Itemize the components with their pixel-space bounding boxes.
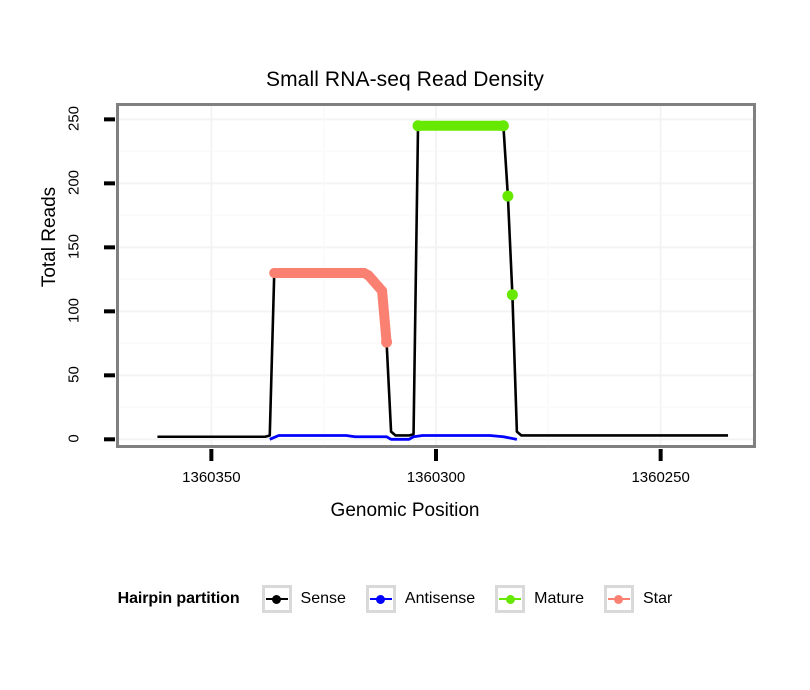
chart-figure: Small RNA-seq Read Density Total Reads G…: [0, 0, 810, 690]
legend-item-antisense[interactable]: Antisense: [366, 585, 495, 613]
legend-label: Star: [643, 590, 672, 608]
data-point-mature: [507, 289, 518, 300]
data-point-mature: [502, 191, 513, 202]
legend-item-star[interactable]: Star: [604, 585, 692, 613]
data-point-star: [377, 286, 387, 296]
data-point-mature: [498, 120, 509, 131]
legend-key-icon: [495, 585, 525, 613]
legend-title: Hairpin partition: [118, 590, 240, 608]
legend-key-icon: [604, 585, 634, 613]
legend-label: Sense: [301, 590, 346, 608]
legend-item-sense[interactable]: Sense: [262, 585, 366, 613]
legend-label: Antisense: [405, 590, 475, 608]
legend-entry-list: SenseAntisenseMatureStar: [262, 585, 693, 613]
legend-key-icon: [366, 585, 396, 613]
data-point-star: [269, 268, 279, 278]
legend-label: Mature: [534, 590, 584, 608]
legend-item-mature[interactable]: Mature: [495, 585, 604, 613]
legend-key-icon: [262, 585, 292, 613]
data-point-star: [381, 337, 392, 348]
chart-legend: Hairpin partition SenseAntisenseMatureSt…: [0, 585, 810, 613]
data-point-mature: [413, 120, 424, 131]
